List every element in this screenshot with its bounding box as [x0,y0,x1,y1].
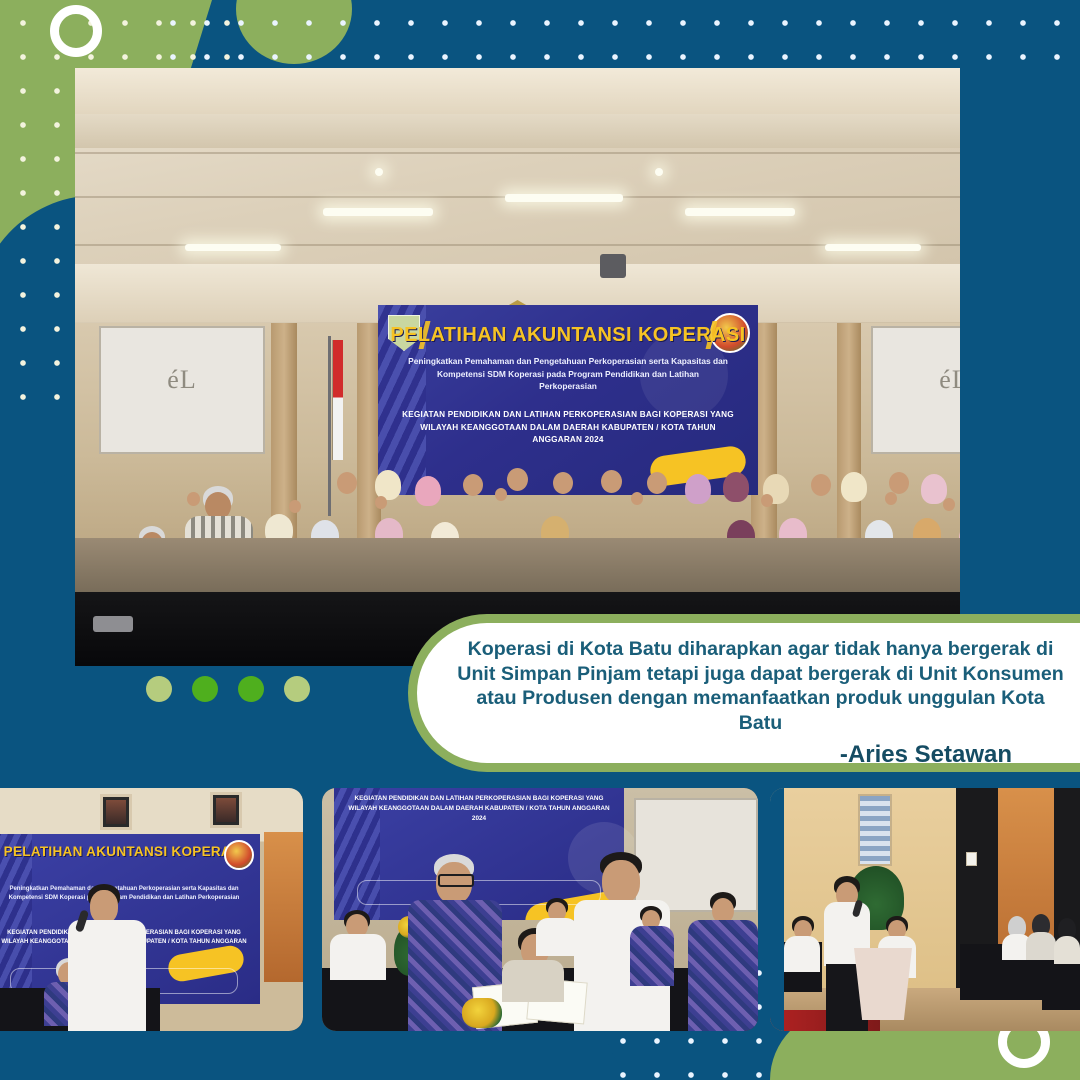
hero-photo: éL éL PELATIHAN AKUNTANSI KOPERASI Penin… [75,68,960,666]
quote-card: Koperasi di Kota Batu diharapkan agar ti… [408,614,1080,772]
thumb2-back-person-2-body [630,926,674,986]
thumb3-audience-3-body [1054,936,1080,964]
ceiling-spot-2 [655,168,663,176]
thumb3-audience-2-body [1026,932,1056,960]
thumb-presenter-audience [770,788,1080,1031]
ceiling-projector [600,254,626,278]
thumb2-right-person-body [688,920,758,1031]
quote-text: Koperasi di Kota Batu diharapkan agar ti… [457,637,1064,736]
thumb1-speaker-head [90,890,118,924]
thumb2-banner-program: KEGIATAN PENDIDIKAN DAN LATIHAN PERKOPER… [343,794,616,823]
thumb2-back-person-1-body [536,918,578,956]
thumb2-table-flowers [462,998,502,1028]
thumb1-banner-title: PELATIHAN AKUNTANSI KOPERASI [0,844,260,859]
thumb2-officer-head [602,860,640,904]
indonesian-flag [333,340,343,460]
thumb2-lady-body [502,960,564,1002]
thumb1-koperasi-logo-icon [224,840,254,870]
thumb1-banner-subtitle: Peningkatkan Pemahaman dan Pengetahuan P… [4,885,243,903]
thumb3-audience-table-2 [1042,956,1080,1010]
thumb2-screen [634,798,758,912]
stage-equipment [93,616,133,632]
ceiling-light-2 [323,208,433,216]
thumb1-speaker-body [68,920,146,1031]
thumb1-wood-panel [264,832,303,982]
ceiling-band-1 [75,68,960,114]
banner-title: PELATIHAN AKUNTANSI KOPERASI [378,324,758,347]
thumb-certificate-handover: KEGIATAN PENDIDIKAN DAN LATIHAN PERKOPER… [322,788,758,1031]
thumb1-portrait-left [100,794,132,830]
quote-attribution: -Aries Setawan [457,741,1064,769]
banner-subtitle: Peningkatkan Pemahaman dan Pengetahuan P… [408,355,728,393]
banner-program-line: KEGIATAN PENDIDIKAN DAN LATIHAN PERKOPER… [396,409,740,447]
white-ring-top-left-icon [50,5,102,57]
green-dot-3 [238,676,264,702]
thumb3-wall-art [858,794,892,866]
ceiling-light-5 [825,244,921,251]
ceiling-band-2 [75,114,960,148]
hotel-logo-left: éL [167,365,196,395]
green-dot-2 [192,676,218,702]
ceiling-line-1 [75,152,960,154]
thumb1-portrait-right [210,792,242,828]
ceiling-spot-1 [375,168,383,176]
ceiling-light-4 [685,208,795,216]
projection-screen-left: éL [99,326,265,454]
thumb3-wall-switch [966,852,977,866]
thumb2-eyeglasses-icon [438,874,474,887]
thumb-speaker-at-banner: PELATIHAN AKUNTANSI KOPERASI Peningkatka… [0,788,303,1031]
green-dot-1 [146,676,172,702]
green-dot-4 [284,676,310,702]
hotel-logo-right: éL [939,365,960,395]
thumb3-left-person-body [784,936,820,972]
ceiling-light-1 [185,244,281,251]
poster-canvas: éL éL PELATIHAN AKUNTANSI KOPERASI Penin… [0,0,1080,1080]
thumb2-official-1-body [330,934,386,980]
thumb3-round-table-cloth [854,948,912,1020]
projection-screen-right: éL [871,326,960,454]
ceiling-light-3 [505,194,623,202]
thumb3-dot-strip [770,788,784,1031]
dot-pattern-top-band [150,0,1080,70]
